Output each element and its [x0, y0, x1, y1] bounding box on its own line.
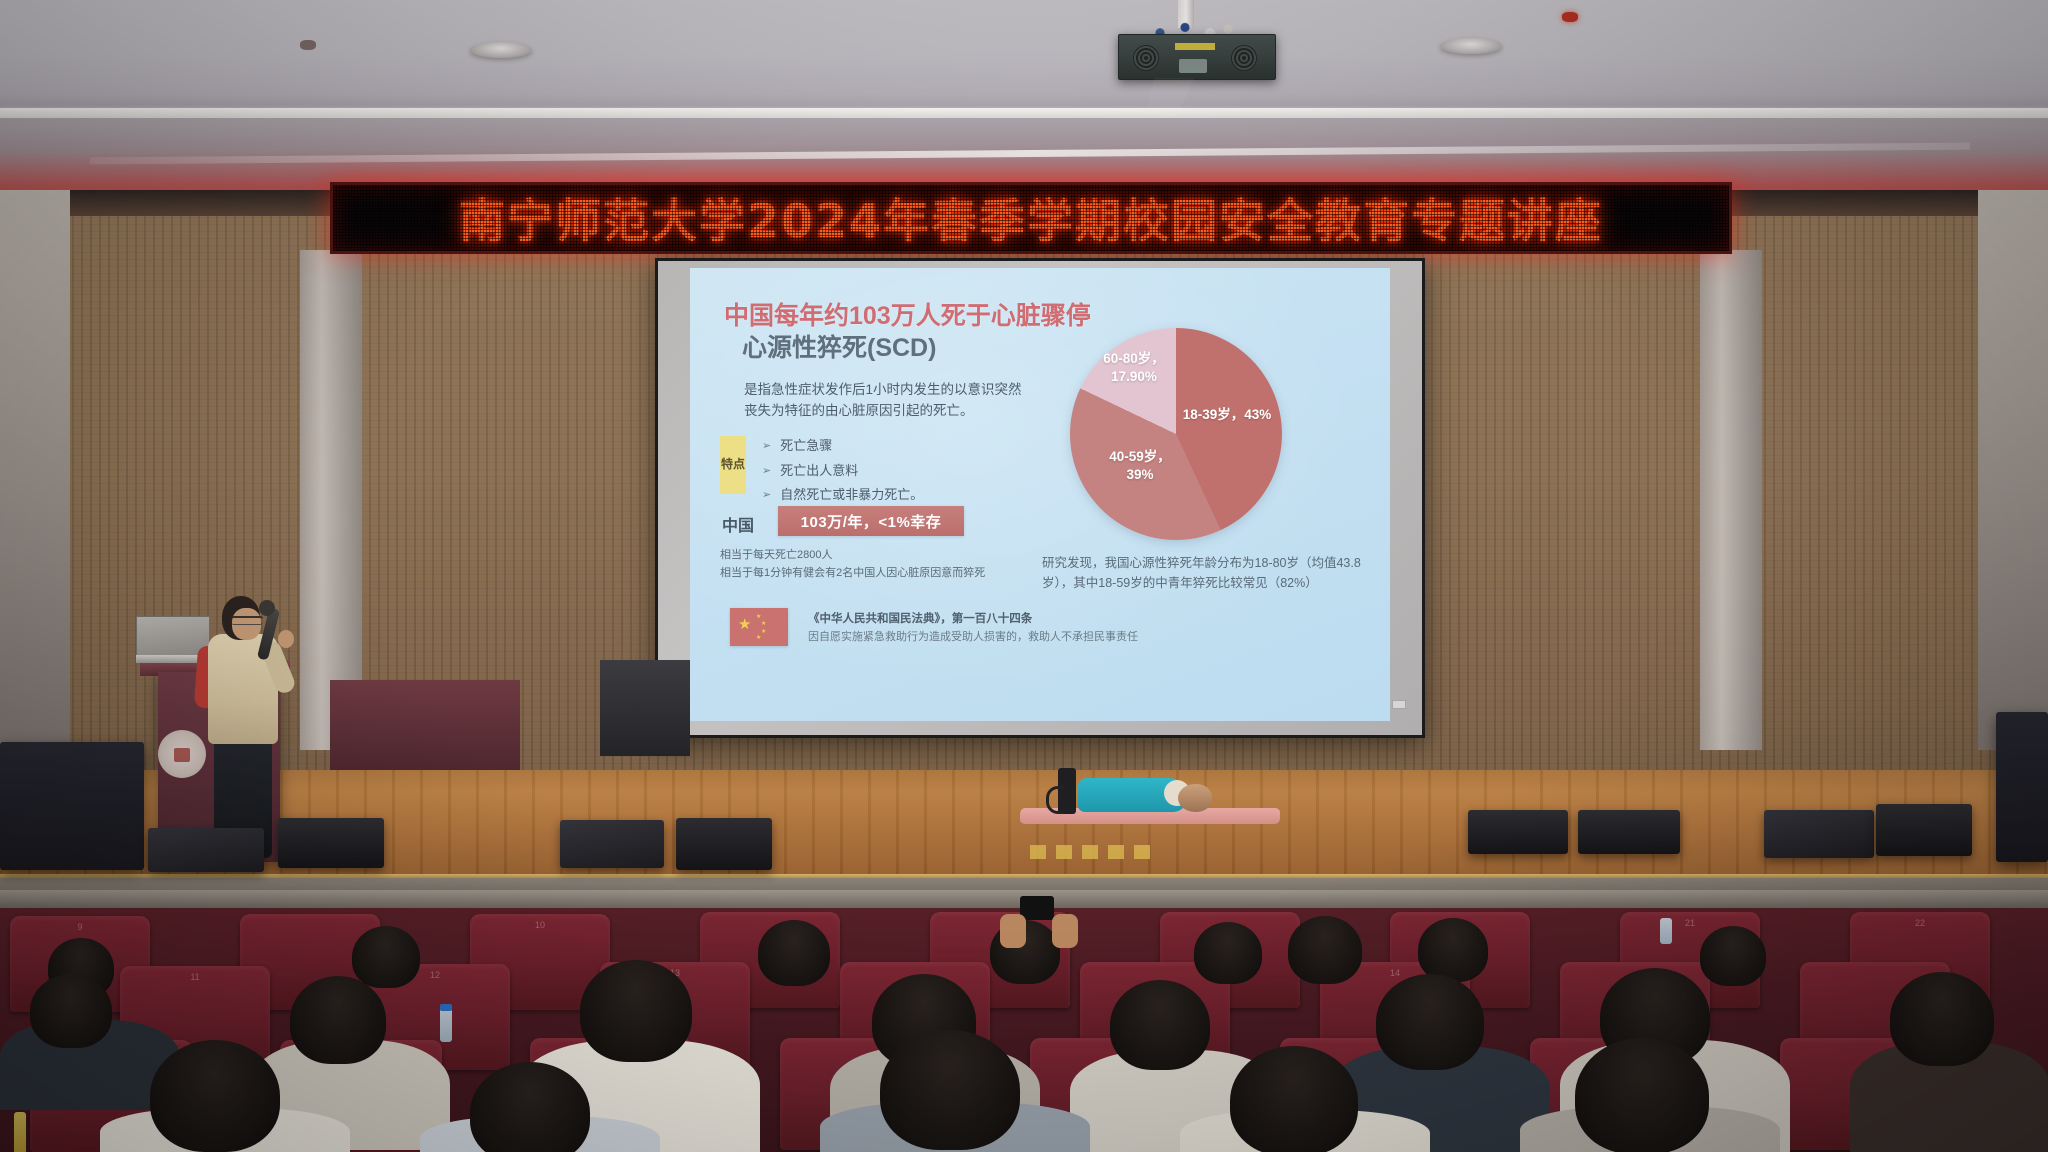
water-bottle: [440, 1008, 452, 1042]
audience-head: [290, 976, 386, 1064]
flag-star-small: ★: [761, 629, 766, 635]
manikin-arm: [1046, 786, 1064, 814]
led-banner-text: 南宁师范大学2024年春季学期校园安全教育专题讲座: [459, 185, 1603, 251]
audience-head: [352, 926, 420, 988]
stage-monitor-speaker: [676, 818, 772, 870]
cpr-manikin-head: [1178, 784, 1212, 812]
flag-star-small: ★: [756, 614, 761, 620]
country-label: 中国: [722, 512, 754, 536]
marble-pillar-left: [300, 250, 362, 750]
projector: [1118, 34, 1276, 80]
projector-fan-vent-icon: [1133, 45, 1159, 71]
water-bottle: [14, 1112, 26, 1152]
slide-title-primary: 中国每年约103万人死于心脏骤停: [724, 296, 1091, 332]
phone-icon: [1020, 896, 1054, 920]
demo-props: [1030, 845, 1150, 859]
audience-head: [1288, 916, 1362, 984]
flag-star-small: ★: [756, 635, 761, 641]
arrow-bullet-icon: ➢: [762, 436, 771, 457]
law-citation-title: 《中华人民共和国民法典》，第一百八十四条: [808, 610, 1032, 626]
audience-head: [30, 974, 112, 1048]
audience-head: [1376, 974, 1484, 1070]
wall-panel-right: [1978, 190, 2048, 750]
audience-hand: [1000, 914, 1026, 948]
list-item: ➢ 自然死亡或非暴力死亡。: [762, 483, 923, 508]
marble-pillar-right: [1700, 250, 1762, 750]
bullet-text: 死亡出人意料: [780, 459, 858, 484]
feature-tag-label: 特点: [720, 436, 746, 494]
water-bottle: [1660, 918, 1672, 944]
podium-emblem-icon: [158, 730, 206, 778]
bottle-cap: [440, 1004, 452, 1011]
statistic-bar: 103万/年，<1%幸存: [778, 506, 964, 536]
stage-monitor-speaker: [148, 828, 264, 872]
bullet-text: 自然死亡或非暴力死亡。: [780, 483, 923, 508]
led-banner: 南宁师范大学2024年春季学期校园安全教育专题讲座: [330, 182, 1732, 254]
audience-head: [758, 920, 830, 986]
microphone-head: [259, 600, 275, 616]
presenter-hand: [278, 630, 294, 648]
feature-tag-text: 特点: [721, 458, 745, 472]
presentation-slide: 中国每年约103万人死于心脏骤停 心源性猝死(SCD) 是指急性症状发作后1小时…: [690, 268, 1390, 721]
projector-fan-vent-icon: [1231, 45, 1257, 71]
stage-monitor-speaker: [278, 818, 384, 868]
seat-number: 9: [10, 922, 150, 932]
slide-definition-text: 是指急性症状发作后1小时内发生的以意识突然丧失为特征的由心脏原因引起的死亡。: [744, 380, 1034, 422]
audience-head: [1890, 972, 1994, 1066]
audience-head: [1230, 1046, 1358, 1152]
china-flag-icon: ★ ★ ★ ★ ★: [730, 608, 788, 646]
slide-notes: 相当于每天死亡2800人 相当于每1分钟有健会有2名中国人因心脏原因意而猝死: [720, 546, 985, 582]
note-line: 相当于每天死亡2800人: [720, 546, 985, 564]
audience-head: [1700, 926, 1766, 986]
note-line: 相当于每1分钟有健会有2名中国人因心脏原因意而猝死: [720, 564, 985, 582]
arrow-bullet-icon: ➢: [762, 461, 771, 482]
flag-star-small: ★: [761, 621, 766, 627]
stage-monitor-speaker: [560, 820, 664, 868]
stage-monitor-speaker: [1578, 810, 1680, 854]
stage-chair: [600, 660, 690, 756]
slide-title-secondary: 心源性猝死(SCD): [742, 328, 936, 364]
side-desk: [330, 680, 520, 770]
stage-monitor-speaker: [1876, 804, 1972, 856]
audience-head: [1575, 1038, 1709, 1152]
lecture-hall-scene: 南宁师范大学2024年春季学期校园安全教育专题讲座 中国每年约103万人死于心脏…: [0, 0, 2048, 1152]
audience-head: [1418, 918, 1488, 982]
pie-slice-label: 60-80岁，17.90%: [1088, 350, 1180, 386]
smoke-detector-icon: [300, 40, 316, 50]
ceiling: [0, 0, 2048, 120]
bullet-text: 死亡急骤: [780, 434, 832, 459]
wall-panel-left: [0, 190, 70, 750]
pie-slice-label: 18-39岁，43%: [1182, 406, 1272, 424]
screen-tab-right: [1392, 700, 1406, 709]
glasses-icon: [231, 616, 263, 625]
stage-monitor-speaker: [1764, 810, 1874, 858]
audience-head: [150, 1040, 280, 1152]
pie-chart-caption: 研究发现，我国心源性猝死年龄分布为18-80岁（均值43.8岁），其中18-59…: [1042, 553, 1372, 593]
list-item: ➢ 死亡出人意料: [762, 459, 923, 484]
seat-number: 22: [1850, 918, 1990, 928]
stage-speaker-large-right: [1996, 712, 2048, 862]
ceiling-downlight: [470, 42, 532, 58]
stage-monitor-speaker: [1468, 810, 1568, 854]
pie-slice-label: 40-59岁，39%: [1102, 448, 1178, 484]
audience-head: [580, 960, 692, 1062]
seat-number: 11: [120, 972, 270, 982]
age-distribution-pie-chart: 18-39岁，43% 40-59岁，39% 60-80岁，17.90%: [1070, 328, 1282, 540]
list-item: ➢ 死亡急骤: [762, 434, 923, 459]
audience-hand: [1052, 914, 1078, 948]
ceiling-downlight: [1440, 38, 1502, 54]
arrow-bullet-icon: ➢: [762, 485, 771, 506]
audience-head: [1194, 922, 1262, 984]
ceiling-light-strip: [0, 108, 2048, 118]
stage-speaker-large-left: [0, 742, 144, 870]
law-citation-text: 因自愿实施紧急救助行为造成受助人损害的，救助人不承担民事责任: [808, 628, 1138, 644]
audience-head: [880, 1030, 1020, 1150]
flag-star-large: ★: [738, 617, 751, 632]
slide-bullet-list: ➢ 死亡急骤 ➢ 死亡出人意料 ➢ 自然死亡或非暴力死亡。: [762, 434, 923, 508]
seat-number: 10: [470, 920, 610, 930]
audience-head: [1110, 980, 1210, 1070]
audience-seating: 9 10 21 22 11 12 13 14: [0, 890, 2048, 1152]
fire-alarm-icon: [1562, 12, 1578, 22]
